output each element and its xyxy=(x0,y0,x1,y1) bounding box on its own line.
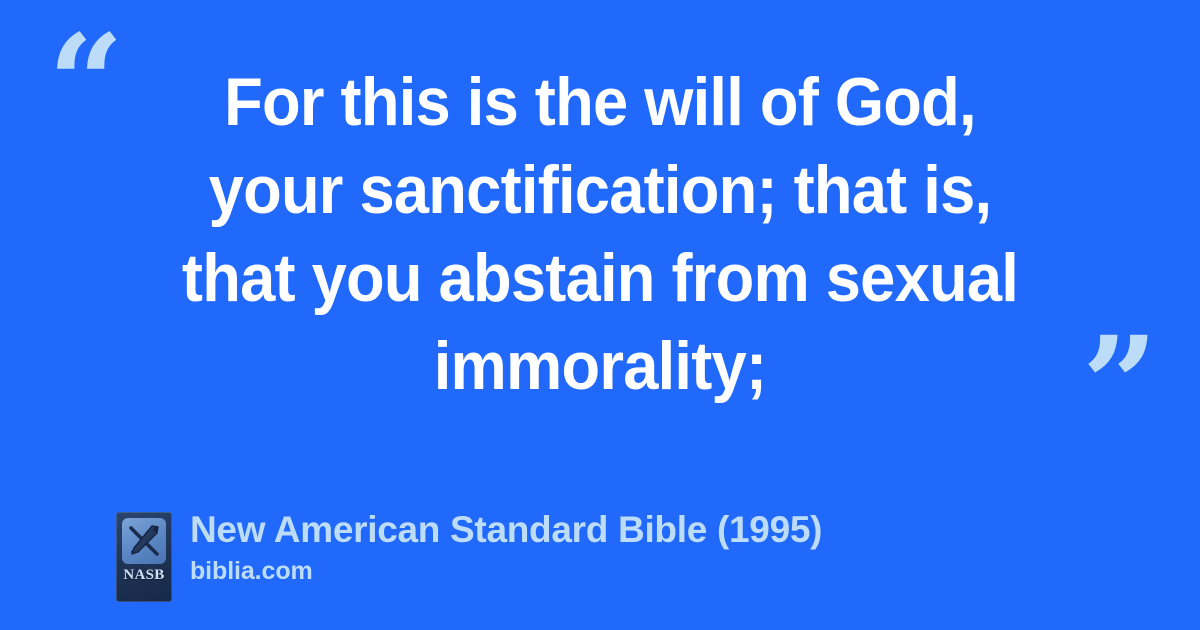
verse-line-4: immorality; xyxy=(144,322,1055,410)
nasb-wordmark: NASB xyxy=(116,568,172,583)
attribution: NASB New American Standard Bible (1995) … xyxy=(116,508,822,602)
verse-line-3: that you abstain from sexual xyxy=(144,234,1055,322)
quote-card: “ For this is the will of God, your sanc… xyxy=(0,0,1200,630)
website-link[interactable]: biblia.com xyxy=(190,556,822,586)
sword-icon xyxy=(122,518,166,564)
verse-line-2: your sanctification; that is, xyxy=(144,146,1055,234)
translation-name: New American Standard Bible (1995) xyxy=(190,508,822,552)
verse-text-block: For this is the will of God, your sancti… xyxy=(110,58,1090,410)
attribution-text: New American Standard Bible (1995) bibli… xyxy=(190,508,822,586)
nasb-logo: NASB xyxy=(116,512,172,602)
verse-line-1: For this is the will of God, xyxy=(144,58,1055,146)
closing-quote-icon: ” xyxy=(1082,320,1155,452)
